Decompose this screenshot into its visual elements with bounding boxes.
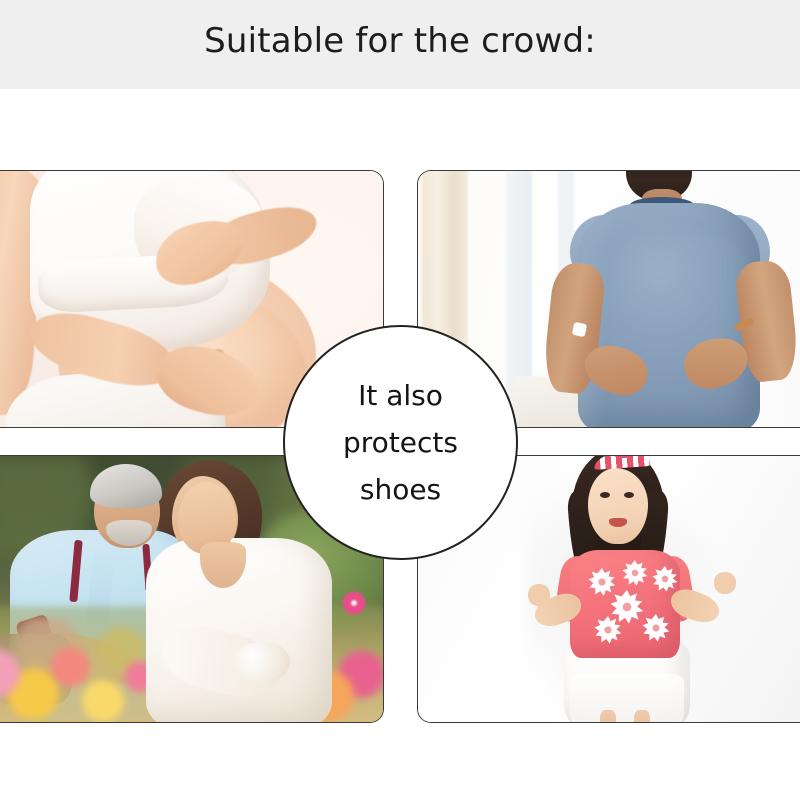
girl-tulle-skirt-layer <box>570 674 684 722</box>
pink-flower <box>339 588 369 618</box>
callout-line-3: shoes <box>360 466 441 513</box>
man-blue-tshirt <box>578 203 760 427</box>
window-pane-left <box>506 171 532 401</box>
arm-patch <box>572 322 587 337</box>
promo-banner: Suitable for the crowd: <box>0 0 800 800</box>
callout-line-1: It also <box>358 372 443 419</box>
girl-right-eye <box>624 492 634 498</box>
girl-right-leg <box>634 710 650 722</box>
header-band: Suitable for the crowd: <box>0 0 800 89</box>
girl-left-leg <box>600 710 616 722</box>
girl-face <box>588 468 648 544</box>
callout-line-2: protects <box>343 419 458 466</box>
center-callout-circle: It also protects shoes <box>283 325 518 560</box>
page-title: Suitable for the crowd: <box>0 21 800 61</box>
girl-right-hand <box>714 572 736 594</box>
girl-left-eye <box>600 492 610 498</box>
girl-left-hand <box>528 584 550 606</box>
